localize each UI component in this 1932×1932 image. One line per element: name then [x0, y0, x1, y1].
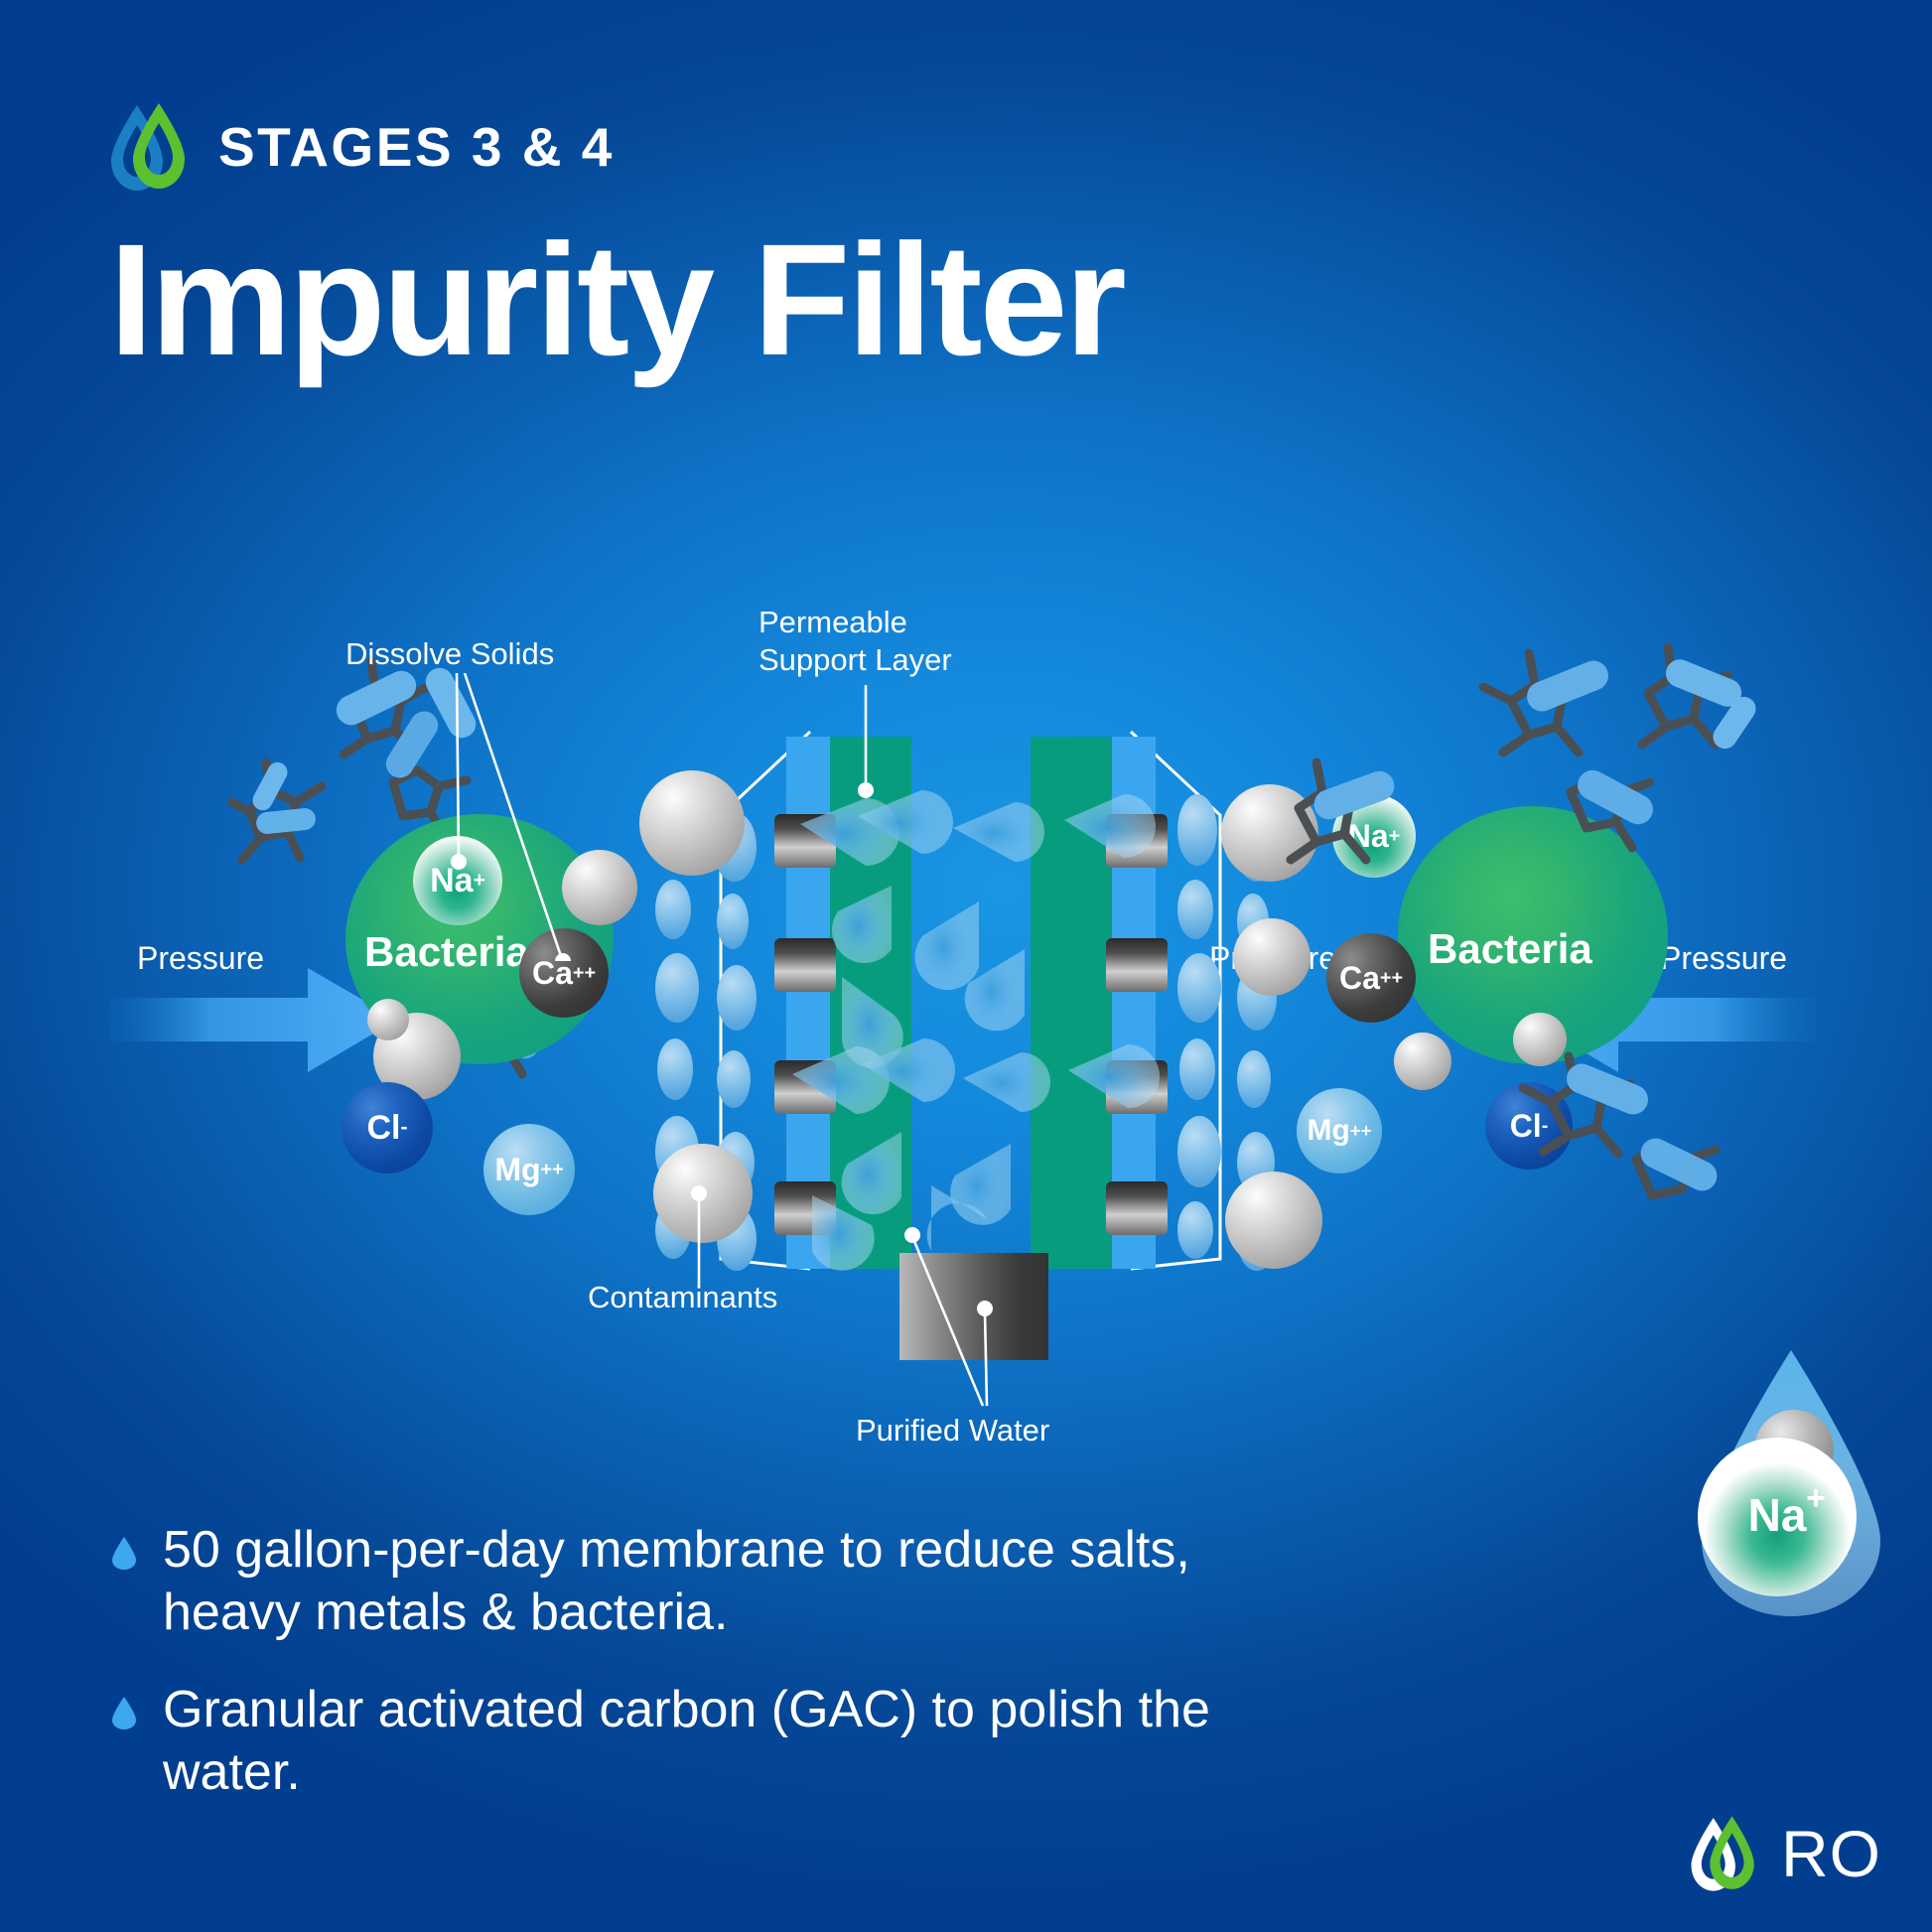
water-drop-bullet-icon: [111, 1695, 137, 1735]
infographic-page: STAGES 3 & 4 Impurity Filter Pressure: [0, 0, 1932, 1932]
leader-purified-water: [864, 1223, 1023, 1412]
ion-mg-left: Mg++: [483, 1124, 575, 1215]
pressure-label-left: Pressure: [137, 940, 264, 977]
contaminant-sphere: [1394, 1033, 1451, 1090]
bullet-text: Granular activated carbon (GAC) to polis…: [163, 1679, 1283, 1805]
label-dissolve-solids: Dissolve Solids: [345, 635, 554, 673]
bullet-item-0: 50 gallon-per-day membrane to reduce sal…: [111, 1519, 1283, 1645]
bacteria-label-right: Bacteria: [1428, 925, 1592, 973]
ion-mg-symbol: Mg: [494, 1152, 540, 1188]
ion-ca-symbol: Ca: [1339, 960, 1380, 997]
droplet-ion-charge: +: [1806, 1479, 1826, 1517]
water-drop-bullet-icon: [111, 1535, 137, 1576]
purified-water-droplet-icon: Na +: [1692, 1342, 1922, 1620]
ion-ca-right: Ca++: [1326, 933, 1416, 1023]
pressure-label-right: Pressure: [1660, 940, 1787, 977]
leader-contaminants: [687, 1183, 711, 1293]
contaminant-sphere: [367, 999, 409, 1040]
footer-brand: RO: [1781, 1816, 1881, 1891]
molecule-cluster-right-top-icon: [1249, 755, 1428, 923]
contaminant-sphere: [1233, 918, 1311, 996]
footer-logo: RO: [1688, 1813, 1881, 1894]
molecule-cluster-right-upper-icon: [1459, 635, 1757, 903]
ion-mg-right: Mg++: [1297, 1088, 1382, 1173]
water-molecules-in-membrane-icon: [774, 737, 1172, 1273]
label-contaminants: Contaminants: [588, 1279, 777, 1316]
contaminant-sphere: [639, 770, 745, 876]
molecule-cluster-right-lower-icon: [1487, 1033, 1735, 1231]
ion-mg-symbol: Mg: [1307, 1114, 1349, 1148]
ion-cl-left: Cl-: [342, 1082, 433, 1173]
label-permeable-support-layer: Permeable Support Layer: [759, 604, 952, 679]
bullet-text: 50 gallon-per-day membrane to reduce sal…: [163, 1519, 1283, 1645]
contaminant-sphere: [1225, 1172, 1322, 1269]
water-drop-logo-icon: [1688, 1813, 1759, 1894]
bullet-item-1: Granular activated carbon (GAC) to polis…: [111, 1679, 1283, 1805]
droplet-ion-label: Na: [1748, 1489, 1807, 1541]
ion-cl-symbol: Cl: [366, 1109, 400, 1148]
bullet-list: 50 gallon-per-day membrane to reduce sal…: [111, 1519, 1283, 1839]
leader-permeable-support-layer: [856, 685, 876, 802]
label-purified-water: Purified Water: [856, 1412, 1049, 1449]
leader-dissolve-solids: [417, 673, 616, 961]
